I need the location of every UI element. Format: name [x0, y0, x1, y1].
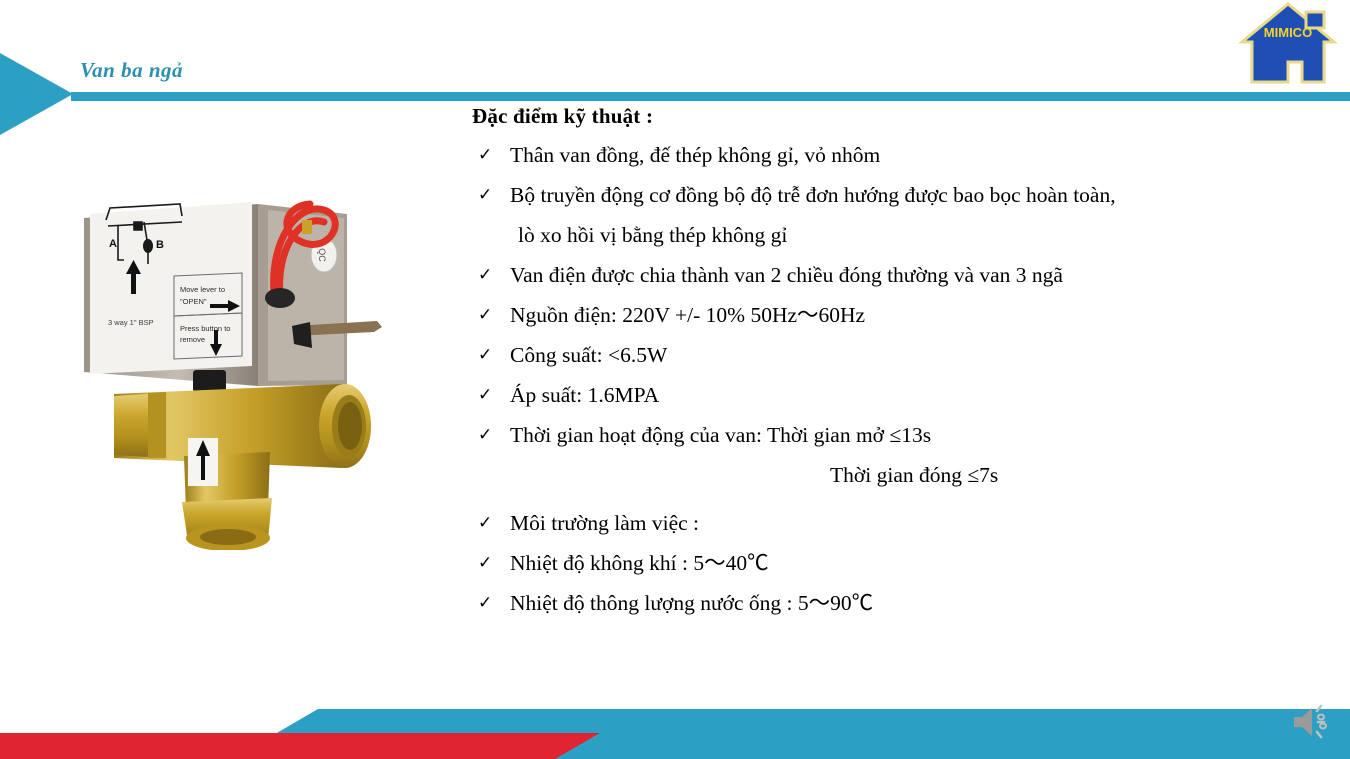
slide-header: Van ba ngả: [0, 0, 1350, 110]
valve-size-label: 3 way 1" BSP: [108, 318, 154, 327]
product-image: A B 3 way 1" BSP Move lever to "OPEN" Pr…: [62, 180, 402, 550]
list-item: ✓ Thời gian hoạt động của van: Thời gian…: [470, 418, 1330, 452]
spec-heading: Đặc điểm kỹ thuật :: [472, 104, 1330, 129]
list-item-text: Thân van đồng, đế thép không gỉ, vỏ nhôm: [510, 138, 1330, 172]
check-icon: ✓: [470, 418, 510, 452]
list-item-continuation: lò xo hồi vị bằng thép không gỉ: [518, 218, 1330, 252]
valve-left-union: [114, 394, 148, 457]
list-item-text: Môi trường làm việc :: [510, 506, 1330, 540]
speaker-icon[interactable]: [1288, 702, 1332, 742]
check-icon: ✓: [470, 586, 510, 620]
list-item-text: Van điện được chia thành van 2 chiều đón…: [510, 258, 1330, 292]
list-item-text: Thời gian hoạt động của van: Thời gian m…: [510, 418, 1330, 452]
list-item: ✓ Bộ truyền động cơ đồng bộ độ trễ đơn h…: [470, 178, 1330, 212]
actuator-label-plate: [90, 202, 252, 374]
header-triangle-icon: [0, 53, 73, 135]
release-button: [193, 370, 226, 392]
port-b-label: B: [156, 239, 164, 251]
check-icon: ✓: [470, 178, 510, 212]
lever-note-line1: Move lever to: [180, 285, 225, 294]
wire-terminal: [302, 220, 312, 234]
list-item-text: Nguồn điện: 220V +/- 10% 50Hz～60Hz: [510, 298, 1330, 332]
lever-note-line2: "OPEN": [180, 297, 207, 306]
button-note-line1: Press button to: [180, 324, 230, 333]
brand-logo: MIMICO: [1238, 0, 1338, 86]
check-icon: ✓: [470, 258, 510, 292]
list-item: ✓ Nhiệt độ thông lượng nước ống : 5～90℃: [470, 586, 1330, 620]
list-item-continuation: Thời gian đóng ≤7s: [830, 458, 1330, 492]
list-item-text: Bộ truyền động cơ đồng bộ độ trễ đơn hướ…: [510, 178, 1330, 212]
page-title: Van ba ngả: [80, 58, 183, 83]
list-item-text: Áp suất: 1.6MPA: [510, 378, 1330, 412]
list-item-text: Nhiệt độ thông lượng nước ống : 5～90℃: [510, 586, 1330, 620]
list-item: ✓ Môi trường làm việc :: [470, 506, 1330, 540]
list-item: ✓ Nhiệt độ không khí : 5～40℃: [470, 546, 1330, 580]
specifications-panel: Đặc điểm kỹ thuật : ✓ Thân van đồng, đế …: [470, 104, 1330, 626]
list-item: ✓ Áp suất: 1.6MPA: [470, 378, 1330, 412]
port-a-label: A: [109, 238, 117, 250]
list-item: ✓ Công suất: <6.5W: [470, 338, 1330, 372]
bottom-banner: [0, 699, 1350, 759]
check-icon: ✓: [470, 378, 510, 412]
list-item-text: Nhiệt độ không khí : 5～40℃: [510, 546, 1330, 580]
check-icon: ✓: [470, 298, 510, 332]
list-item: ✓ Van điện được chia thành van 2 chiều đ…: [470, 258, 1330, 292]
check-icon: ✓: [470, 338, 510, 372]
list-item: ✓ Nguồn điện: 220V +/- 10% 50Hz～60Hz: [470, 298, 1330, 332]
button-note-line2: remove: [180, 335, 205, 344]
check-icon: ✓: [470, 546, 510, 580]
logo-text: MIMICO: [1264, 25, 1312, 40]
header-divider-rule: [71, 92, 1350, 101]
qc-stamp-text: QC: [317, 248, 327, 262]
check-icon: ✓: [470, 506, 510, 540]
house-icon: MIMICO: [1238, 0, 1338, 86]
check-icon: ✓: [470, 138, 510, 172]
wire-grommet: [265, 288, 295, 308]
list-item: ✓ Thân van đồng, đế thép không gỉ, vỏ nh…: [470, 138, 1330, 172]
list-item-text: Công suất: <6.5W: [510, 338, 1330, 372]
